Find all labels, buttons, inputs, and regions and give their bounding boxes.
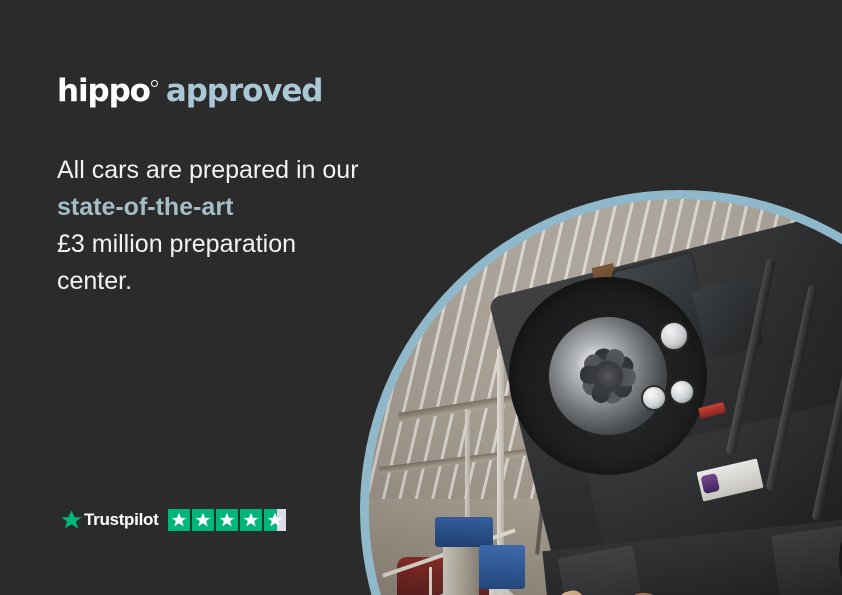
headline-accent-line: state-of-the-art bbox=[57, 189, 417, 226]
headline-line-1: All cars are prepared in our bbox=[57, 152, 417, 189]
workshop-photo-circle: HippoMotorgroup bbox=[360, 190, 842, 595]
headline-block: All cars are prepared in our state-of-th… bbox=[57, 152, 417, 300]
spare-tire-rim bbox=[536, 304, 679, 447]
rating-star-3 bbox=[216, 509, 238, 531]
tail-lamp bbox=[641, 385, 667, 411]
reverse-lamp bbox=[659, 321, 689, 351]
rating-star-1 bbox=[168, 509, 190, 531]
trustpilot-badge[interactable]: Trustpilot bbox=[60, 508, 286, 532]
headline-line-4: center. bbox=[57, 263, 417, 300]
lift-control-box bbox=[479, 545, 525, 589]
logo-suffix-text: approved bbox=[166, 76, 323, 107]
stair-post bbox=[429, 567, 432, 595]
rating-star-4 bbox=[240, 509, 262, 531]
lift-head bbox=[435, 517, 493, 547]
registered-mark-icon bbox=[151, 80, 158, 87]
tail-lamp bbox=[669, 379, 695, 405]
trustpilot-star-icon bbox=[60, 509, 83, 532]
workshop-photo: HippoMotorgroup bbox=[369, 199, 842, 595]
trustpilot-wordmark: Trustpilot bbox=[84, 510, 158, 530]
mud-flap bbox=[771, 523, 842, 595]
promotional-banner: hippo approved All cars are prepared in … bbox=[0, 0, 842, 595]
trustpilot-star-rating bbox=[168, 509, 286, 531]
badge-icon bbox=[700, 473, 720, 494]
workshop-scene: HippoMotorgroup bbox=[369, 199, 842, 595]
rating-star-5-half bbox=[264, 509, 286, 531]
logo-brand-text: hippo bbox=[57, 76, 150, 107]
rating-star-2 bbox=[192, 509, 214, 531]
headline-line-3: £3 million preparation bbox=[57, 226, 417, 263]
hippo-approved-logo: hippo approved bbox=[57, 76, 322, 107]
